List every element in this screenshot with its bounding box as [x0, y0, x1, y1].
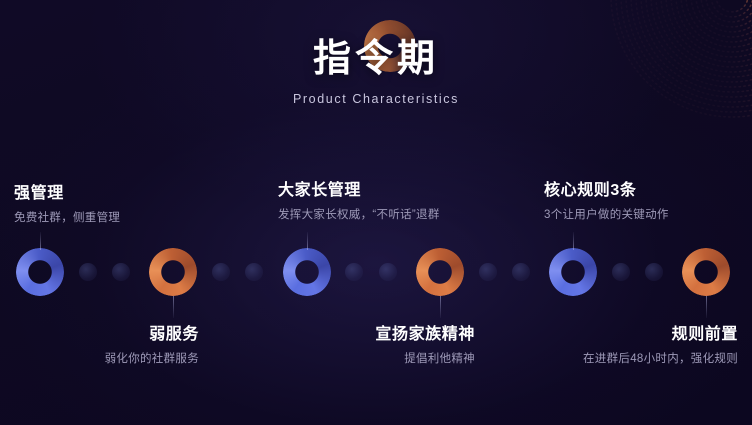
label-desc: 弱化你的社群服务 — [0, 352, 199, 367]
timeline-dot — [212, 263, 230, 281]
timeline-node-1[interactable] — [16, 248, 64, 296]
title-wrap: 指令期 — [305, 36, 447, 82]
connector-line-1 — [40, 232, 41, 250]
label-lead: 规则前置 — [478, 325, 738, 345]
label-core-rules[interactable]: 核心规则3条 3个让用户做的关键动作 — [544, 181, 752, 223]
label-desc: 发挥大家长权威，“不听话”退群 — [278, 208, 538, 223]
ring-icon — [16, 248, 64, 296]
ring-icon — [549, 248, 597, 296]
label-desc: 免费社群，侧重管理 — [14, 211, 274, 226]
page-title: 指令期 — [313, 36, 439, 82]
label-desc: 在进群后48小时内，强化规则 — [478, 352, 738, 367]
label-lead: 核心规则3条 — [544, 181, 752, 201]
label-patriarch-management[interactable]: 大家长管理 发挥大家长权威，“不听话”退群 — [278, 181, 538, 223]
label-lead: 弱服务 — [0, 325, 199, 345]
slide-canvas: 指令期 Product Characteristics — [0, 0, 752, 425]
label-weak-service[interactable]: 弱服务 弱化你的社群服务 — [0, 325, 199, 367]
timeline-dot — [345, 263, 363, 281]
label-lead: 宣扬家族精神 — [215, 325, 475, 345]
label-strong-management[interactable]: 强管理 免费社群，侧重管理 — [14, 184, 274, 226]
label-rules-upfront[interactable]: 规则前置 在进群后48小时内，强化规则 — [478, 325, 738, 367]
ring-icon — [283, 248, 331, 296]
connector-line-5 — [573, 232, 574, 250]
timeline-dot — [379, 263, 397, 281]
timeline-dot — [245, 263, 263, 281]
timeline-node-5[interactable] — [549, 248, 597, 296]
timeline-node-2[interactable] — [149, 248, 197, 296]
label-family-spirit[interactable]: 宣扬家族精神 提倡利他精神 — [215, 325, 475, 367]
label-desc: 3个让用户做的关键动作 — [544, 208, 752, 223]
page-subtitle: Product Characteristics — [0, 92, 752, 106]
connector-line-6 — [706, 296, 707, 318]
connector-line-3 — [307, 232, 308, 250]
timeline-dot — [112, 263, 130, 281]
connector-line-2 — [173, 296, 174, 318]
label-lead: 强管理 — [14, 184, 274, 204]
timeline-dot — [479, 263, 497, 281]
timeline-node-4[interactable] — [416, 248, 464, 296]
label-lead: 大家长管理 — [278, 181, 538, 201]
ring-icon — [416, 248, 464, 296]
timeline-node-3[interactable] — [283, 248, 331, 296]
ring-icon — [149, 248, 197, 296]
label-desc: 提倡利他精神 — [215, 352, 475, 367]
ring-icon — [682, 248, 730, 296]
timeline-dot — [512, 263, 530, 281]
timeline-dot — [612, 263, 630, 281]
timeline-dot — [79, 263, 97, 281]
timeline-dot — [645, 263, 663, 281]
slide-header: 指令期 Product Characteristics — [0, 36, 752, 106]
timeline-node-6[interactable] — [682, 248, 730, 296]
timeline-track — [0, 248, 752, 296]
connector-line-4 — [440, 296, 441, 318]
